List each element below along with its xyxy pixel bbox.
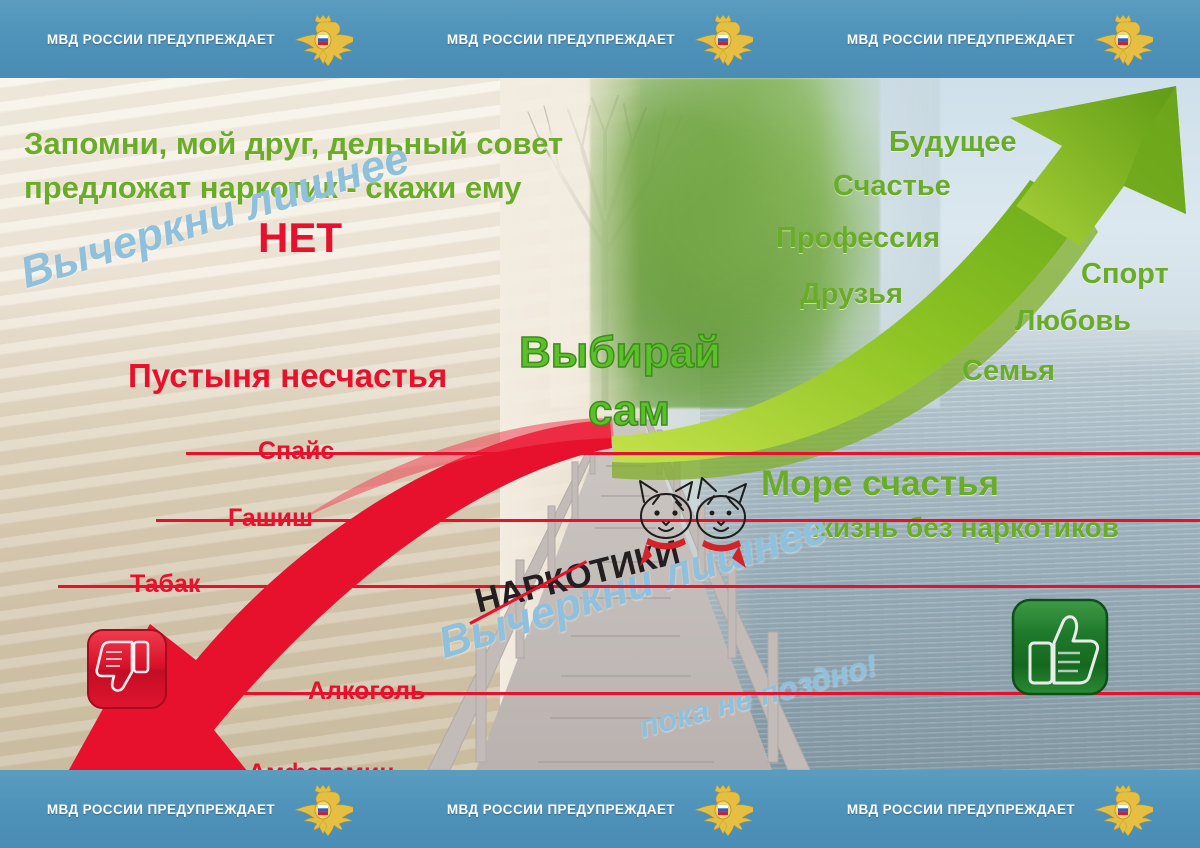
two-cats-drawing	[626, 472, 756, 572]
mvd-eagle-emblem	[1093, 780, 1153, 838]
banner-cell: МВД РОССИИ ПРЕДУПРЕЖДАЕТ	[800, 0, 1200, 78]
positive-word: Счастье	[833, 170, 951, 203]
banner-text: МВД РОССИИ ПРЕДУПРЕЖДАЕТ	[47, 32, 275, 47]
banner-text: МВД РОССИИ ПРЕДУПРЕЖДАЕТ	[847, 32, 1075, 47]
positive-word: Семья	[962, 355, 1055, 388]
positive-word: Спорт	[1081, 258, 1169, 291]
banner-top: МВД РОССИИ ПРЕДУПРЕЖДАЕТ МВД РОССИИ ПРЕД…	[0, 0, 1200, 78]
poster-canvas: МВД РОССИИ ПРЕДУПРЕЖДАЕТ МВД РОССИИ ПРЕД…	[0, 0, 1200, 848]
positive-word: Любовь	[1015, 305, 1131, 338]
mvd-eagle-emblem	[1093, 10, 1153, 68]
desert-of-misfortune-title: Пустыня несчастья	[128, 357, 447, 395]
banner-text: МВД РОССИИ ПРЕДУПРЕЖДАЕТ	[447, 32, 675, 47]
banner-text: МВД РОССИИ ПРЕДУПРЕЖДАЕТ	[847, 802, 1075, 817]
choose-yourself-line-1: Выбирай	[519, 328, 721, 378]
positive-word: Будущее	[889, 126, 1016, 159]
advice-line-1: Запомни, мой друг, дельный совет	[24, 126, 563, 162]
sea-of-happiness-title: Море счастья	[761, 464, 999, 504]
banner-text: МВД РОССИИ ПРЕДУПРЕЖДАЕТ	[47, 802, 275, 817]
thumbs-up-icon[interactable]	[1010, 597, 1110, 697]
mvd-eagle-emblem	[293, 10, 353, 68]
thumbs-down-icon[interactable]	[86, 628, 168, 710]
mvd-eagle-emblem	[293, 780, 353, 838]
mvd-eagle-emblem	[693, 10, 753, 68]
banner-cell: МВД РОССИИ ПРЕДУПРЕЖДАЕТ	[400, 0, 800, 78]
banner-cell: МВД РОССИИ ПРЕДУПРЕЖДАЕТ	[0, 770, 400, 848]
banner-cell: МВД РОССИИ ПРЕДУПРЕЖДАЕТ	[0, 0, 400, 78]
banner-cell: МВД РОССИИ ПРЕДУПРЕЖДАЕТ	[800, 770, 1200, 848]
banner-text: МВД РОССИИ ПРЕДУПРЕЖДАЕТ	[447, 802, 675, 817]
drug-item: Спайс	[258, 437, 1200, 466]
mvd-eagle-emblem	[693, 780, 753, 838]
positive-word: Друзья	[800, 278, 903, 311]
choose-yourself-line-2: сам	[588, 386, 670, 436]
banner-cell: МВД РОССИИ ПРЕДУПРЕЖДАЕТ	[400, 770, 800, 848]
positive-word: Профессия	[776, 222, 940, 255]
banner-bottom: МВД РОССИИ ПРЕДУПРЕЖДАЕТ МВД РОССИИ ПРЕД…	[0, 770, 1200, 848]
